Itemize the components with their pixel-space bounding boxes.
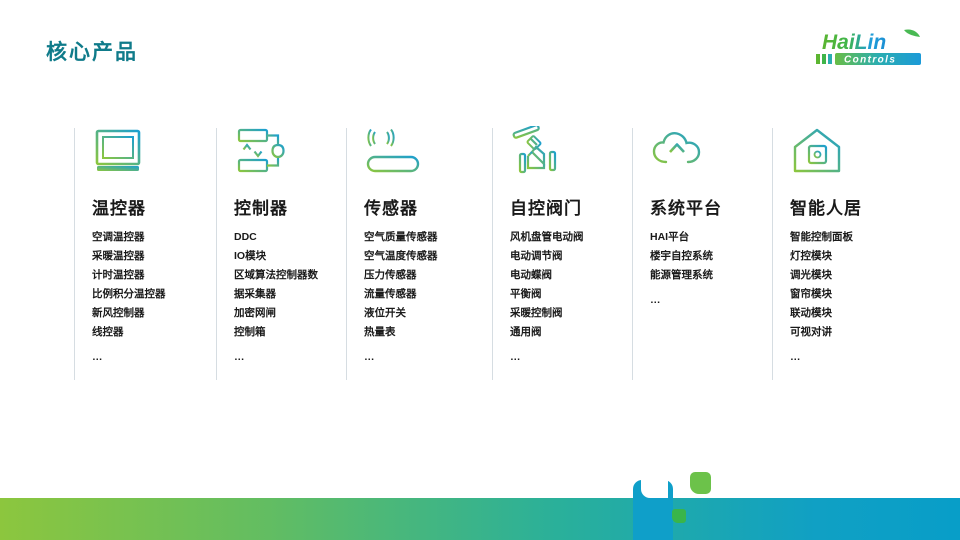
list-more-indicator: … [234,342,346,367]
product-column-sensor: 传感器 空气质量传感器 空气温度传感器 压力传感器 流量传感器 液位开关 热量表… [346,126,492,367]
list-item: 通用阀 [510,323,632,342]
list-item: 风机盘管电动阀 [510,228,632,247]
column-item-list: 空调温控器 采暖温控器 计时温控器 比例积分温控器 新风控制器 线控器 … [92,228,216,367]
list-item: 压力传感器 [364,266,492,285]
list-item: 控制箱 [234,323,346,342]
list-item: IO模块 [234,247,346,266]
list-item: 热量表 [364,323,492,342]
svg-text:Controls: Controls [844,55,896,66]
sensor-antenna-icon [364,126,492,180]
list-item: 流量传感器 [364,285,492,304]
column-item-list: HAI平台 楼宇自控系统 能源管理系统 … [650,228,772,310]
column-divider [772,128,773,380]
list-more-indicator: … [650,285,772,310]
list-item: 线控器 [92,323,216,342]
list-more-indicator: … [790,342,908,367]
list-item: 计时温控器 [92,266,216,285]
list-item: 比例积分温控器 [92,285,216,304]
list-item: 新风控制器 [92,304,216,323]
product-column-valve: 自控阀门 风机盘管电动阀 电动调节阀 电动蝶阀 平衡阀 采暖控制阀 通用阀 … [492,126,632,367]
list-item: 液位开关 [364,304,492,323]
smart-home-chip-icon [790,126,908,180]
column-divider [74,128,75,380]
list-item: 采暖温控器 [92,247,216,266]
decorative-square-small [672,509,686,523]
product-column-smart-home: 智能人居 智能控制面板 灯控模块 调光模块 窗帘模块 联动模块 可视对讲 … [772,126,908,367]
list-item: 智能控制面板 [790,228,908,247]
list-item: 楼宇自控系统 [650,247,772,266]
list-item: 能源管理系统 [650,266,772,285]
list-item: DDC [234,228,346,247]
column-title: 系统平台 [650,194,772,219]
column-item-list: DDC IO模块 区域算法控制器数 据采集器 加密网闸 控制箱 … [234,228,346,367]
list-item: 平衡阀 [510,285,632,304]
column-item-list: 智能控制面板 灯控模块 调光模块 窗帘模块 联动模块 可视对讲 … [790,228,908,367]
hailin-controls-logo: HaiLin Controls [808,26,932,68]
list-more-indicator: … [510,342,632,367]
cloud-upload-icon [650,126,772,180]
column-title: 控制器 [234,194,346,219]
column-title: 智能人居 [790,194,908,219]
list-item: 窗帘模块 [790,285,908,304]
decorative-square-large [690,472,711,494]
page-title: 核心产品 [46,36,138,66]
list-item: HAI平台 [650,228,772,247]
list-item: 据采集器 [234,285,346,304]
list-item: 采暖控制阀 [510,304,632,323]
monitor-thermostat-icon [92,126,216,180]
product-columns: 温控器 空调温控器 采暖温控器 计时温控器 比例积分温控器 新风控制器 线控器 … [74,126,908,396]
list-more-indicator: … [92,342,216,367]
list-item: 电动调节阀 [510,247,632,266]
list-item: 灯控模块 [790,247,908,266]
product-column-platform: 系统平台 HAI平台 楼宇自控系统 能源管理系统 … [632,126,772,310]
column-divider [216,128,217,380]
product-column-thermostat: 温控器 空调温控器 采暖温控器 计时温控器 比例积分温控器 新风控制器 线控器 … [74,126,216,367]
list-item: 调光模块 [790,266,908,285]
column-title: 传感器 [364,194,492,219]
footer-gradient-bar [0,498,960,540]
column-divider [346,128,347,380]
decorative-notch-cutout [641,480,668,498]
list-item: 空气温度传感器 [364,247,492,266]
list-item: 可视对讲 [790,323,908,342]
control-valve-icon [510,126,632,180]
list-item: 电动蝶阀 [510,266,632,285]
column-divider [492,128,493,380]
list-item: 空调温控器 [92,228,216,247]
product-column-controller: 控制器 DDC IO模块 区域算法控制器数 据采集器 加密网闸 控制箱 … [216,126,346,367]
list-item: 加密网闸 [234,304,346,323]
list-item: 空气质量传感器 [364,228,492,247]
list-item: 联动模块 [790,304,908,323]
column-item-list: 空气质量传感器 空气温度传感器 压力传感器 流量传感器 液位开关 热量表 … [364,228,492,367]
column-item-list: 风机盘管电动阀 电动调节阀 电动蝶阀 平衡阀 采暖控制阀 通用阀 … [510,228,632,367]
list-item: 区域算法控制器数 [234,266,346,285]
column-title: 自控阀门 [510,194,632,219]
svg-text:HaiLin: HaiLin [822,31,886,54]
column-title: 温控器 [92,194,216,219]
controller-diagram-icon [234,126,346,180]
list-more-indicator: … [364,342,492,367]
column-divider [632,128,633,380]
